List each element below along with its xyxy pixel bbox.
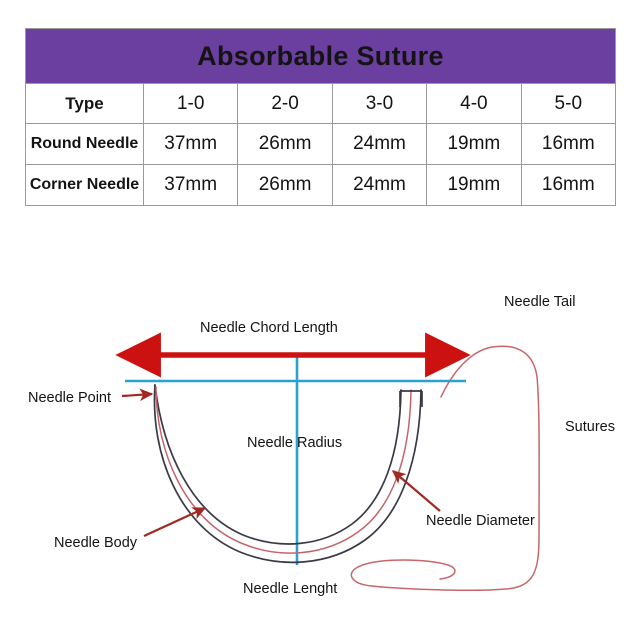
needle-point-pointer-arrow: [122, 394, 152, 396]
label-needle-point: Needle Point: [28, 390, 111, 406]
column-header-4-0: 4-0: [427, 84, 521, 124]
table-header-row: Type 1-0 2-0 3-0 4-0 5-0: [26, 84, 616, 124]
row-label-corner-needle: Corner Needle: [26, 165, 144, 206]
table-title-row: Absorbable Suture: [26, 29, 616, 84]
label-needle-body: Needle Body: [54, 535, 138, 551]
cell-round-2-0: 26mm: [238, 124, 332, 165]
column-header-2-0: 2-0: [238, 84, 332, 124]
label-needle-tail: Needle Tail: [504, 294, 575, 310]
cell-corner-5-0: 16mm: [521, 165, 615, 206]
cell-round-5-0: 16mm: [521, 124, 615, 165]
cell-corner-3-0: 24mm: [332, 165, 426, 206]
suture-size-table: Absorbable Suture Type 1-0 2-0 3-0 4-0 5…: [25, 28, 616, 206]
column-header-3-0: 3-0: [332, 84, 426, 124]
cell-corner-1-0: 37mm: [144, 165, 238, 206]
cell-corner-4-0: 19mm: [427, 165, 521, 206]
row-label-round-needle: Round Needle: [26, 124, 144, 165]
column-header-5-0: 5-0: [521, 84, 615, 124]
table-title: Absorbable Suture: [26, 29, 616, 84]
needle-body-pointer-arrow: [144, 508, 205, 536]
suture-size-table-container: Absorbable Suture Type 1-0 2-0 3-0 4-0 5…: [25, 28, 615, 206]
label-needle-radius: Needle Radius: [247, 435, 342, 451]
label-needle-chord-length: Needle Chord Length: [200, 320, 338, 336]
needle-diameter-pointer-arrow: [393, 471, 440, 511]
cell-round-3-0: 24mm: [332, 124, 426, 165]
label-needle-diameter: Needle Diameter: [426, 513, 535, 529]
table-row: Corner Needle 37mm 26mm 24mm 19mm 16mm: [26, 165, 616, 206]
cell-round-4-0: 19mm: [427, 124, 521, 165]
cell-round-1-0: 37mm: [144, 124, 238, 165]
needle-body-curve: [154, 385, 421, 562]
suture-thread: [351, 346, 539, 590]
label-needle-lenght: Needle Lenght: [243, 581, 337, 597]
column-header-1-0: 1-0: [144, 84, 238, 124]
column-header-type: Type: [26, 84, 144, 124]
label-sutures: Sutures: [565, 419, 615, 435]
needle-anatomy-diagram: Needle Chord Length Needle Point Needle …: [0, 255, 640, 640]
cell-corner-2-0: 26mm: [238, 165, 332, 206]
table-row: Round Needle 37mm 26mm 24mm 19mm 16mm: [26, 124, 616, 165]
